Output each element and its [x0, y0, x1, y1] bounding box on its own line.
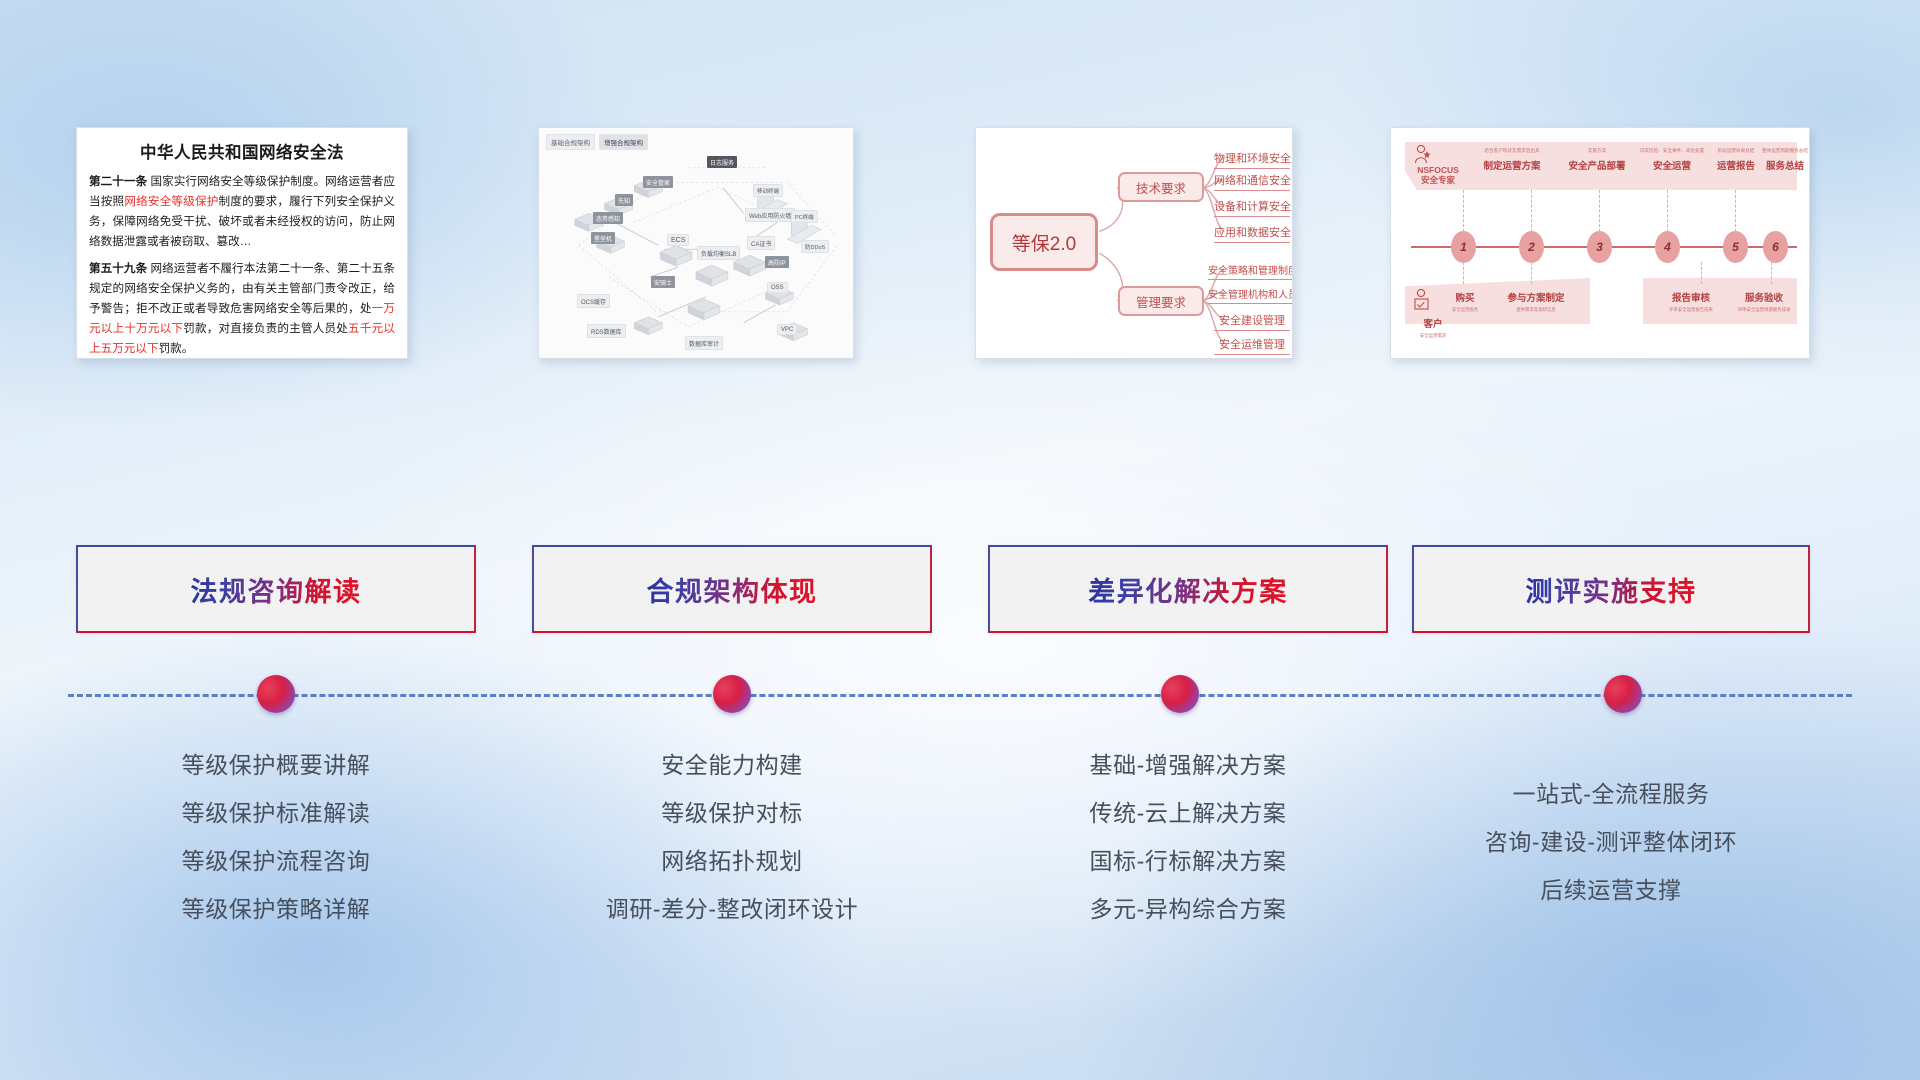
timeline-bottom-step-4-title: 服务验收 — [1731, 290, 1797, 304]
arch-node-xianzhi: 先知 — [615, 194, 633, 206]
timeline-connector-b3 — [1701, 262, 1702, 284]
timeline-connector-2 — [1531, 190, 1532, 232]
arch-node-ecs: ECS — [667, 234, 689, 246]
header-label-4: 测评实施支持 — [1526, 570, 1697, 609]
section-headers-row: 法规咨询解读 合规架构体现 差异化解决方案 测评实施支持 — [0, 545, 1920, 637]
timeline-bottom-step-3: 报告审核 评审安全运营报告成果 — [1659, 290, 1723, 312]
timeline-connector-5 — [1735, 190, 1736, 232]
arch-node-ca: CA证书 — [747, 236, 775, 250]
timeline-top-step-2: 实施方案 安全产品部署 — [1557, 148, 1637, 172]
header-label-1: 法规咨询解读 — [191, 570, 362, 609]
timeline-top-step-1-title: 制定运营方案 — [1469, 158, 1555, 172]
arch-node-antiddos-ip: 高防IP — [765, 256, 789, 268]
timeline-top-step-2-sub: 实施方案 — [1557, 148, 1637, 153]
arch-node-ocs: OCS缓存 — [577, 294, 610, 308]
timeline-bottom-step-1-sub: 安全运营服务 — [1443, 307, 1487, 312]
timeline-top-step-4-title: 运营报告 — [1705, 158, 1767, 172]
arch-node-vpc: VPC — [777, 324, 797, 335]
timeline-customer-label: 客户 — [1411, 316, 1455, 330]
timeline-top-step-2-title: 安全产品部署 — [1557, 158, 1637, 172]
mindmap-leaf-construction: 安全建设管理 — [1214, 312, 1290, 331]
header-box-evaluation-support[interactable]: 测评实施支持 — [1412, 545, 1810, 633]
timeline-bottom-step-3-sub: 评审安全运营报告成果 — [1659, 307, 1723, 312]
mindmap-leaf-device: 设备和计算安全 — [1214, 198, 1290, 217]
timeline-connector-b1 — [1463, 262, 1464, 284]
list-item: 等级保护策略详解 — [76, 886, 476, 934]
law-article-21-highlight: 网络安全等级保护 — [124, 195, 218, 208]
mindmap-diagram: 等保2.0 技术要求 管理要求 物理和环境安全 网络和通信安全 设备和计算安全 … — [976, 128, 1292, 358]
timeline-dashed-rule — [68, 694, 1852, 697]
timeline-connector-3 — [1599, 190, 1600, 232]
architecture-diagram: 基础合规架构 增强合规架构 — [539, 128, 853, 358]
arch-node-waf: Web应用防火墙 — [745, 208, 795, 222]
timeline-customer-sub: 安全运营需求 — [1411, 333, 1455, 338]
mindmap-leaf-org: 安全管理机构和人员 — [1208, 286, 1293, 304]
arch-node-slb: 负载均衡SLB — [697, 246, 740, 260]
mindmap-leaf-policy: 安全策略和管理制度 — [1208, 262, 1293, 280]
law-article-59-text-b: 罚款，对直接负责的主管人员处 — [183, 322, 348, 335]
header-box-compliance-architecture[interactable]: 合规架构体现 — [532, 545, 932, 633]
timeline-marker-3[interactable] — [1161, 675, 1199, 713]
timeline-node-3[interactable]: 3 — [1587, 231, 1612, 263]
law-article-59-label: 第五十九条 — [89, 262, 147, 275]
customer-person-icon — [1413, 288, 1431, 312]
timeline-marker-1[interactable] — [257, 675, 295, 713]
preview-card-architecture[interactable]: 基础合规架构 增强合规架构 — [538, 127, 854, 359]
header-box-differentiated-solution[interactable]: 差异化解决方案 — [988, 545, 1388, 633]
list-item: 网络拓扑规划 — [532, 838, 932, 886]
detail-list-1: 等级保护概要讲解 等级保护标准解读 等级保护流程咨询 等级保护策略详解 — [76, 742, 476, 934]
timeline-bottom-step-1-title: 购买 — [1443, 290, 1487, 304]
timeline-connector-b2 — [1531, 262, 1532, 284]
list-item: 等级保护标准解读 — [76, 790, 476, 838]
preview-card-law[interactable]: 中华人民共和国网络安全法 第二十一条 国家实行网络安全等级保护制度。网络运营者应… — [76, 127, 408, 359]
timeline-connector-b4 — [1771, 262, 1772, 284]
arch-node-log: 日志服务 — [707, 156, 737, 168]
detail-list-2: 安全能力构建 等级保护对标 网络拓扑规划 调研-差分-整改闭环设计 — [532, 742, 932, 934]
mindmap-leaf-network: 网络和通信安全 — [1214, 172, 1290, 191]
list-item: 调研-差分-整改闭环设计 — [532, 886, 932, 934]
law-article-59-text-c: 罚款。 — [159, 342, 194, 355]
timeline-bottom-step-4: 服务验收 评审安全运营周期服务成果 — [1731, 290, 1797, 312]
timeline-top-step-4: 阶段运营效果总结 运营报告 — [1705, 148, 1767, 172]
timeline-bottom-step-2-sub: 提供需求及现状信息 — [1495, 307, 1577, 312]
arch-node-anqishi: 安骑士 — [651, 276, 675, 288]
header-label-3: 差异化解决方案 — [1088, 570, 1288, 609]
list-item: 国标-行标解决方案 — [988, 838, 1388, 886]
timeline-top-step-5-title: 服务总结 — [1761, 158, 1809, 172]
arch-node-mobile: 移动终端 — [753, 184, 783, 197]
timeline-node-4[interactable]: 4 — [1655, 231, 1680, 263]
detail-list-3: 基础-增强解决方案 传统-云上解决方案 国标-行标解决方案 多元-异构综合方案 — [988, 742, 1388, 934]
header-box-regulation-consulting[interactable]: 法规咨询解读 — [76, 545, 476, 633]
list-item: 后续运营支撑 — [1412, 867, 1810, 915]
arch-node-db-audit: 数据库审计 — [685, 336, 723, 350]
mindmap-branch-management: 管理要求 — [1118, 286, 1204, 316]
law-article-21-label: 第二十一条 — [89, 175, 147, 188]
list-item: 等级保护概要讲解 — [76, 742, 476, 790]
timeline-connector-1 — [1463, 190, 1464, 232]
list-item: 等级保护对标 — [532, 790, 932, 838]
timeline-node-2[interactable]: 2 — [1519, 231, 1544, 263]
detail-list-4: 一站式-全流程服务 咨询-建设-测评整体闭环 后续运营支撑 — [1412, 742, 1810, 915]
timeline-top-step-4-sub: 阶段运营效果总结 — [1705, 148, 1767, 153]
timeline-marker-2[interactable] — [713, 675, 751, 713]
arch-node-rds: RDS数据库 — [587, 324, 626, 338]
list-item: 传统-云上解决方案 — [988, 790, 1388, 838]
timeline-diagram: NSFOCUS 安全专家 结合客户现状及需求后出具 制定运营方案 实施方案 安全… — [1391, 128, 1809, 358]
mindmap-leaf-application: 应用和数据安全 — [1214, 224, 1290, 243]
timeline-bottom-step-4-sub: 评审安全运营周期服务成果 — [1731, 307, 1797, 312]
arch-node-bastion: 堡垒机 — [591, 232, 615, 244]
arch-node-oss: OSS — [767, 282, 788, 293]
timeline-top-step-3: 日常巡检、安全事件、高危处置 安全运营 — [1635, 148, 1709, 172]
timeline-top-step-3-title: 安全运营 — [1635, 158, 1709, 172]
law-title: 中华人民共和国网络安全法 — [89, 139, 395, 163]
timeline-top-step-1-sub: 结合客户现状及需求后出具 — [1469, 148, 1555, 153]
timeline-bottom-step-1: 购买 安全运营服务 — [1443, 290, 1487, 312]
preview-cards-row: 中华人民共和国网络安全法 第二十一条 国家实行网络安全等级保护制度。网络运营者应… — [0, 127, 1920, 362]
timeline-bottom-step-2-title: 参与方案制定 — [1495, 290, 1577, 304]
expert-person-icon — [1413, 144, 1431, 166]
arch-node-situation: 态势感知 — [593, 212, 623, 224]
timeline-node-1[interactable]: 1 — [1451, 231, 1476, 263]
timeline-top-step-3-sub: 日常巡检、安全事件、高危处置 — [1635, 148, 1709, 153]
mindmap-root-node: 等保2.0 — [990, 213, 1098, 271]
timeline-brand-line2: 安全专家 — [1413, 176, 1463, 186]
timeline-node-5[interactable]: 5 — [1723, 231, 1748, 263]
preview-card-mindmap[interactable]: 等保2.0 技术要求 管理要求 物理和环境安全 网络和通信安全 设备和计算安全 … — [975, 127, 1293, 359]
timeline-customer: 客户 安全运营需求 — [1411, 316, 1455, 338]
timeline-bottom-step-2: 参与方案制定 提供需求及现状信息 — [1495, 290, 1577, 312]
timeline-brand: NSFOCUS 安全专家 — [1413, 166, 1463, 186]
timeline-top-step-1: 结合客户现状及需求后出具 制定运营方案 — [1469, 148, 1555, 172]
timeline-marker-4[interactable] — [1604, 675, 1642, 713]
timeline-node-6[interactable]: 6 — [1763, 231, 1788, 263]
law-document: 中华人民共和国网络安全法 第二十一条 国家实行网络安全等级保护制度。网络运营者应… — [77, 128, 407, 359]
law-article-21: 第二十一条 国家实行网络安全等级保护制度。网络运营者应当按照网络安全等级保护制度… — [89, 172, 395, 252]
mindmap-leaf-operation: 安全运维管理 — [1214, 336, 1290, 355]
timeline-top-step-5-sub: 整体运营周期服务总结 — [1761, 148, 1809, 153]
preview-card-timeline[interactable]: NSFOCUS 安全专家 结合客户现状及需求后出具 制定运营方案 实施方案 安全… — [1390, 127, 1810, 359]
list-item: 基础-增强解决方案 — [988, 742, 1388, 790]
list-item: 咨询-建设-测评整体闭环 — [1412, 819, 1810, 867]
list-item: 多元-异构综合方案 — [988, 886, 1388, 934]
header-label-2: 合规架构体现 — [647, 570, 818, 609]
timeline-bottom-step-3-title: 报告审核 — [1659, 290, 1723, 304]
law-article-59: 第五十九条 网络运营者不履行本法第二十一条、第二十五条规定的网络安全保护义务的，… — [89, 259, 395, 359]
mindmap-leaf-physical: 物理和环境安全 — [1214, 150, 1290, 169]
mindmap-branch-technical: 技术要求 — [1118, 172, 1204, 202]
list-item: 一站式-全流程服务 — [1412, 771, 1810, 819]
timeline-connector-4 — [1667, 190, 1668, 232]
list-item: 等级保护流程咨询 — [76, 838, 476, 886]
arch-node-pc: PC终端 — [791, 210, 818, 223]
list-item: 安全能力构建 — [532, 742, 932, 790]
timeline-top-step-5: 整体运营周期服务总结 服务总结 — [1761, 148, 1809, 172]
arch-node-antiddos: 防DDoS — [801, 240, 829, 253]
arch-node-manager: 安全管家 — [643, 176, 673, 188]
